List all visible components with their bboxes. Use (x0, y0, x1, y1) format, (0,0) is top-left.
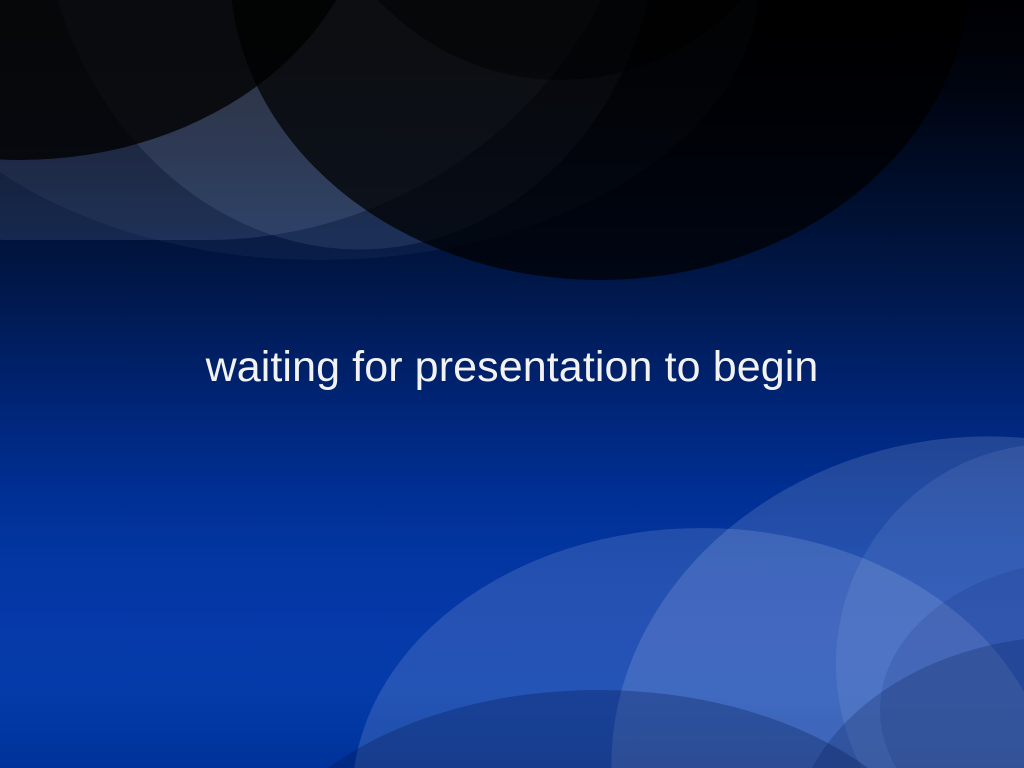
swoosh-shape-top-bite-a (0, 0, 370, 160)
swoosh-shape-bottom-lobe-b (562, 380, 1024, 768)
swoosh-shape-bottom-lobe-c (836, 444, 1024, 768)
slide-text-block: waiting for presentation to begin (0, 342, 1024, 393)
swoosh-shape-top-wash (0, 0, 760, 260)
swoosh-shape-bottom-bite-c (880, 560, 1024, 768)
swoosh-shape-top-bite-c (300, 0, 820, 80)
swoosh-shape-bottom-bite-b (792, 636, 1024, 768)
swoosh-shape-top-lobe-b (4, 0, 696, 280)
slide-title: waiting for presentation to begin (206, 342, 819, 393)
swoosh-shape-bottom-bite-a (238, 690, 958, 768)
swoosh-shape-top-bite-b (230, 0, 970, 280)
presentation-slide: waiting for presentation to begin (0, 0, 1024, 768)
swoosh-shape-top-lobe-a (0, 0, 650, 240)
swoosh-shape-bottom-lobe-a (352, 528, 1024, 768)
